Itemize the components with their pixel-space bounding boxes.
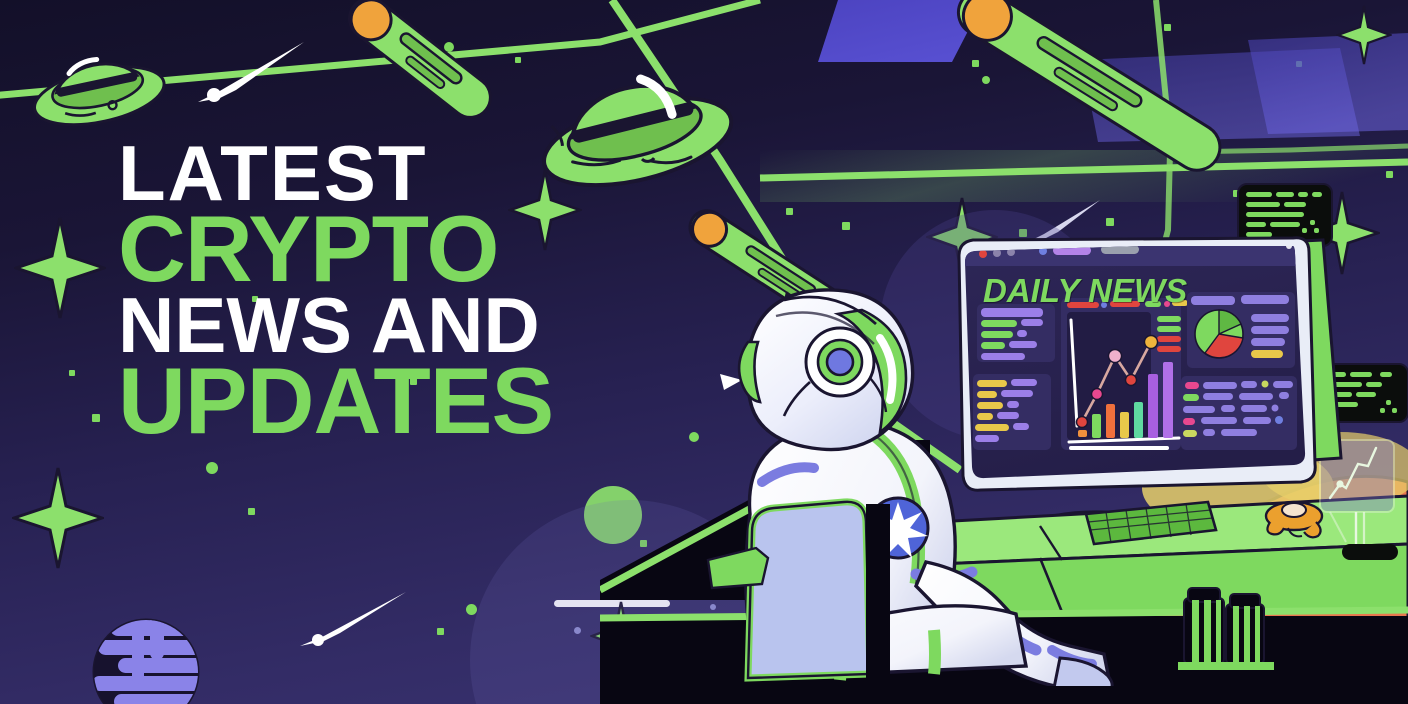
desk-block xyxy=(704,544,772,592)
comet-top-left-icon xyxy=(316,0,526,120)
sparkle-star-icon-1 xyxy=(14,216,106,320)
shooting-star-icon-2 xyxy=(294,588,414,658)
striped-planet-icon xyxy=(88,614,208,704)
orange-saucer-object xyxy=(1258,494,1330,542)
daily-news-title: DAILY NEWS xyxy=(983,272,1187,310)
green-canisters xyxy=(1178,582,1278,674)
keyboard xyxy=(1082,500,1218,546)
page-title: LATEST CRYPTO NEWS AND UPDATES xyxy=(118,138,678,444)
sparkle-star-icon-8 xyxy=(1336,4,1392,66)
chair xyxy=(742,498,892,704)
ufo-small-icon xyxy=(22,30,172,140)
poster-canvas: LATEST CRYPTO NEWS AND UPDATES xyxy=(0,0,1408,704)
shooting-star-icon xyxy=(192,36,312,116)
headline-line-2: CRYPTO xyxy=(118,206,678,292)
daily-news-monitor[interactable]: DAILY NEWS xyxy=(955,240,1345,490)
sparkle-star-icon-2 xyxy=(12,466,104,570)
headline-line-4: UPDATES xyxy=(118,358,678,444)
comet-top-right-icon xyxy=(930,0,1260,200)
